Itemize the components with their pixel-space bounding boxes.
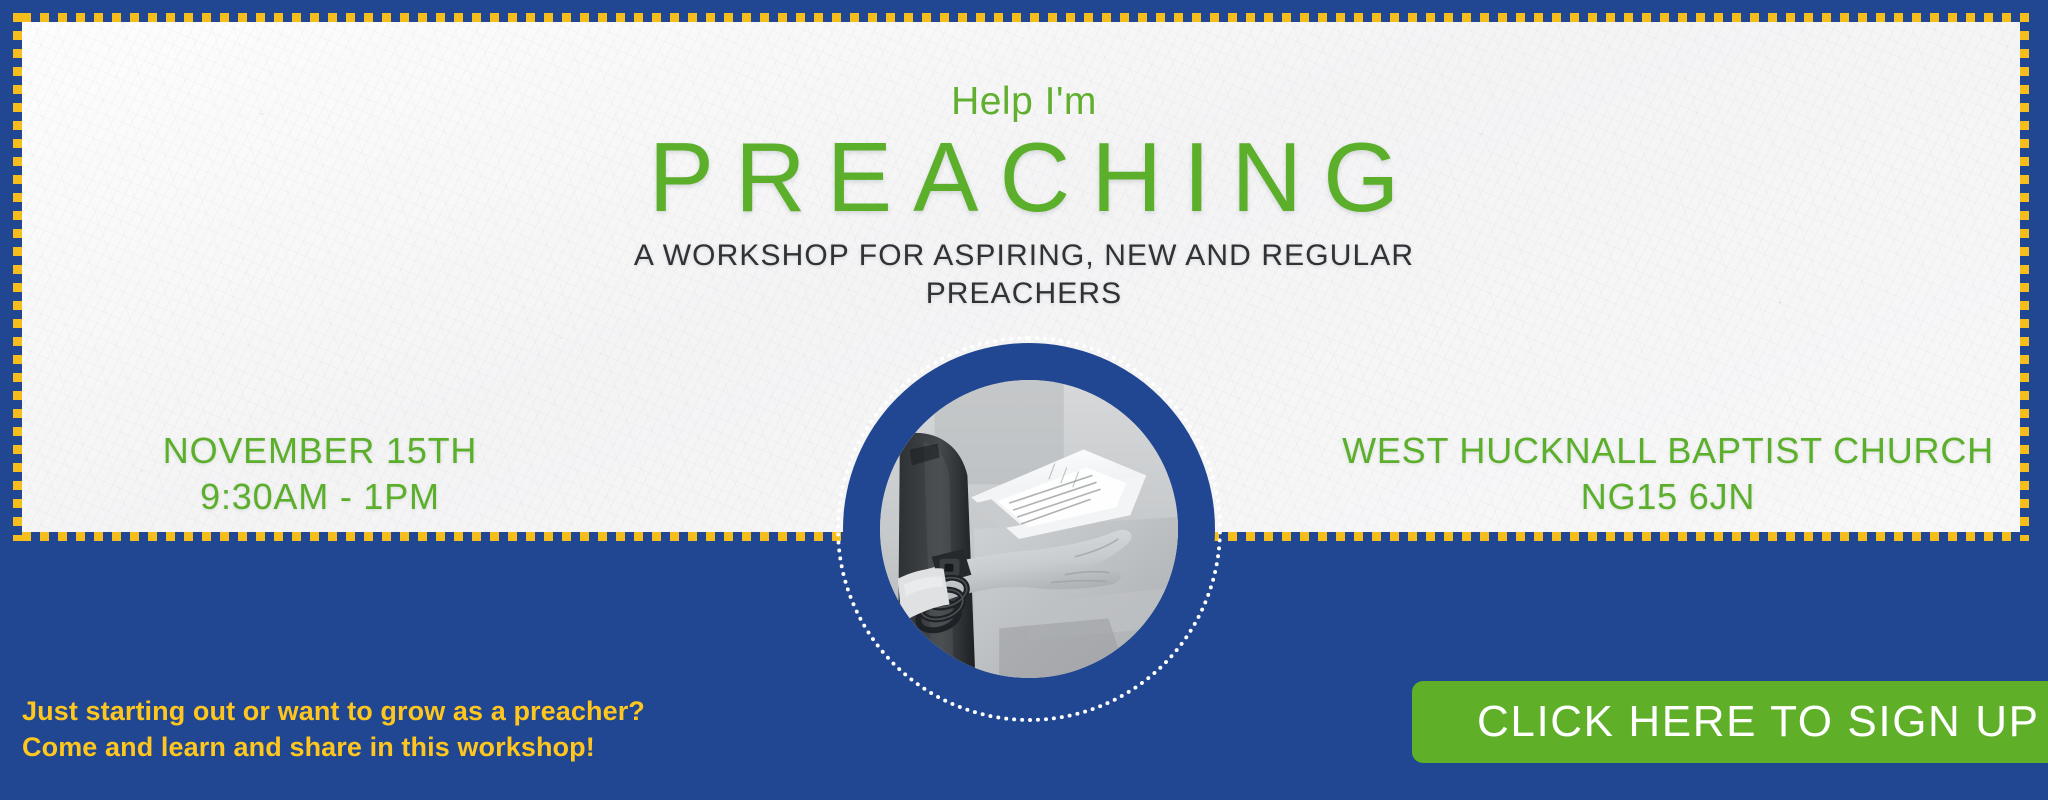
venue-name: WEST HUCKNALL BAPTIST CHURCH [1318, 428, 2018, 474]
tagline-line-1: Just starting out or want to grow as a p… [22, 694, 645, 730]
preacher-photo [880, 380, 1178, 678]
subtitle-text: A WORKSHOP FOR ASPIRING, NEW AND REGULAR… [624, 237, 1424, 313]
event-venue-block: WEST HUCKNALL BAPTIST CHURCH NG15 6JN [1318, 428, 2018, 520]
eyebrow-text: Help I'm [0, 82, 2048, 121]
event-date: NOVEMBER 15TH [40, 428, 600, 474]
event-datetime-block: NOVEMBER 15TH 9:30AM - 1PM [40, 428, 600, 520]
dashed-border-top [22, 13, 2020, 22]
event-time: 9:30AM - 1PM [40, 474, 600, 520]
preaching-workshop-banner: Help I'm PREACHING A WORKSHOP FOR ASPIRI… [0, 0, 2048, 800]
page-title: PREACHING [0, 125, 2048, 231]
tagline-line-2: Come and learn and share in this worksho… [22, 730, 645, 766]
photo-medallion [843, 343, 1215, 715]
venue-postcode: NG15 6JN [1318, 474, 2018, 520]
headline-block: Help I'm PREACHING A WORKSHOP FOR ASPIRI… [0, 82, 2048, 312]
tagline-block: Just starting out or want to grow as a p… [22, 694, 645, 765]
sign-up-button[interactable]: CLICK HERE TO SIGN UP [1412, 681, 2048, 763]
